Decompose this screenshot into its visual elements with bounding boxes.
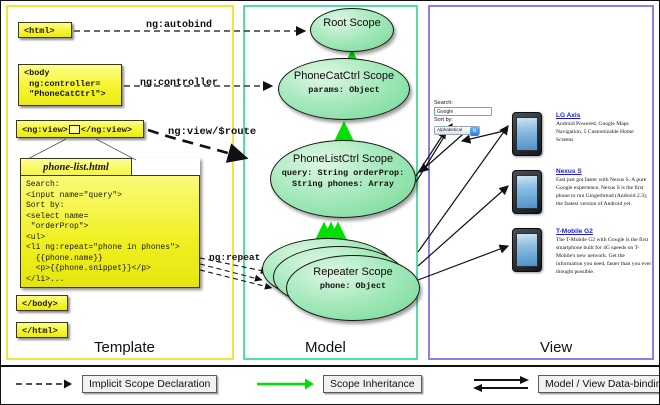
column-label-model: Model <box>305 339 346 356</box>
list-item: Nexus S Fast just got faster with Nexus … <box>556 168 652 209</box>
code-tag-body: <body ng:controller= "PhoneCatCtrl"> <box>18 64 122 106</box>
note-code: Search: <input name="query"> Sort by: <s… <box>20 175 200 288</box>
scope-repeater: Repeater Scope phone: Object <box>286 255 420 321</box>
ngview-close-label: </ng:view> <box>81 125 132 135</box>
scope-repeater-props: phone: Object <box>287 281 419 292</box>
double-arrow-icon <box>470 375 532 393</box>
phone-link-2[interactable]: Nexus S <box>556 168 652 175</box>
scope-repeater-title: Repeater Scope <box>287 266 419 278</box>
legend-label-model-view-data-binding: Model / View Data-binding <box>538 375 660 393</box>
scope-phonelistctrl-title: PhoneListCtrl Scope <box>271 153 415 165</box>
phone-link-3[interactable]: T-Mobile G2 <box>556 228 652 235</box>
sort-select[interactable]: Alphabetical ⇅ <box>434 126 480 135</box>
scope-phonecatctrl: PhoneCatCtrl Scope params: Object <box>278 58 410 120</box>
chevron-updown-icon[interactable]: ⇅ <box>470 127 479 136</box>
note-title: phone-list.html <box>20 158 132 176</box>
legend-item-model-view-data-binding: Model / View Data-binding <box>470 375 660 393</box>
phone-screen-1 <box>516 117 538 151</box>
connector-label-repeat: ng:repeat <box>209 252 260 263</box>
scope-phonecatctrl-props: params: Object <box>279 85 409 96</box>
legend-label-scope-inheritance: Scope Inheritance <box>323 375 422 393</box>
dashed-arrow-icon <box>14 375 76 393</box>
scope-phonelistctrl: PhoneListCtrl Scope query: String orderP… <box>270 140 416 218</box>
scope-root: Root Scope <box>310 8 394 52</box>
phone-list-template-note: phone-list.html Search: <input name="que… <box>20 158 200 288</box>
code-tag-ngview: <ng:view></ng:view> <box>16 120 144 138</box>
legend-item-scope-inheritance: Scope Inheritance <box>255 375 422 393</box>
search-label: Search: <box>434 99 496 107</box>
phone-screen-2 <box>516 175 538 209</box>
ngview-open-label: <ng:view> <box>22 125 68 135</box>
connector-label-controller: ng:controller <box>140 78 218 89</box>
column-label-template: Template <box>94 339 155 356</box>
search-widget: Search: Google Sort by: Alphabetical ⇅ <box>434 99 496 135</box>
list-item: T-Mobile G2 The T-Mobile G2 with Google … <box>556 228 652 277</box>
scope-phonecatctrl-title: PhoneCatCtrl Scope <box>279 70 409 82</box>
sort-label: Sort by: <box>434 116 496 124</box>
phone-snippet-2: Fast just got faster with Nexus S. A pur… <box>556 177 652 209</box>
phone-thumbnail-1 <box>512 112 542 156</box>
code-tag-html-close: </html> <box>16 322 68 338</box>
column-label-view: View <box>540 339 572 356</box>
phone-link-1[interactable]: LG Axis <box>556 112 652 119</box>
ngview-placeholder-icon <box>69 125 80 134</box>
list-item: LG Axis Android Powered, Google Maps Nav… <box>556 112 652 145</box>
code-tag-body-close: </body> <box>16 295 68 311</box>
diagram-canvas: Template Model View <box>0 0 660 405</box>
scope-repeater-stack: Repeater Scope phone: Object <box>262 238 420 330</box>
search-input[interactable]: Google <box>434 107 492 116</box>
phone-snippet-1: Android Powered, Google Maps Navigation,… <box>556 121 652 145</box>
solid-arrow-icon <box>255 375 317 393</box>
phone-thumbnail-3 <box>512 228 542 272</box>
code-tag-html: <html> <box>18 22 72 38</box>
legend-label-implicit-scope-declaration: Implicit Scope Declaration <box>82 375 217 393</box>
sort-select-value: Alphabetical <box>437 126 462 134</box>
scope-phonelistctrl-props: query: String orderProp: String phones: … <box>271 168 415 189</box>
connector-label-autobind: ng:autobind <box>146 20 212 31</box>
phone-snippet-3: The T-Mobile G2 with Google is the first… <box>556 237 652 277</box>
legend: Implicit Scope Declaration Scope Inherit… <box>0 365 660 405</box>
phone-thumbnail-2 <box>512 170 542 214</box>
connector-label-route: ng:view/$route <box>168 126 256 138</box>
legend-item-implicit-scope-declaration: Implicit Scope Declaration <box>14 375 217 393</box>
scope-root-title: Root Scope <box>311 17 393 29</box>
phone-screen-3 <box>516 233 538 267</box>
legend-divider <box>0 365 660 367</box>
